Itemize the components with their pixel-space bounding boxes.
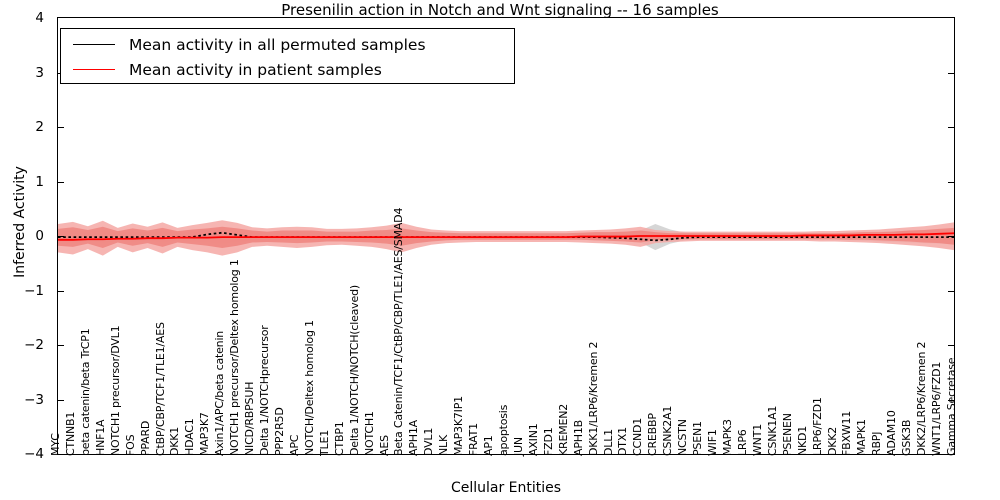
x-tick-label: NOTCH/Deltex homolog 1 — [304, 320, 315, 456]
y-tick-label: −4 — [24, 446, 44, 462]
x-tick-label: FOS — [125, 435, 136, 456]
x-tick-label: PSENEN — [782, 413, 793, 456]
x-tick-label: DKK1/LRP6/Kremen 2 — [588, 342, 599, 456]
x-tick-label: CREBBP — [647, 413, 658, 456]
x-tick-label: Gamma Secretase — [946, 358, 957, 456]
x-tick-label: NICD/RBPSUH — [244, 382, 255, 456]
x-tick-label: DLL1 — [603, 429, 614, 456]
x-tick-label: AXIN1 — [528, 423, 539, 456]
y-tick-label: −2 — [24, 337, 44, 353]
x-tick-label: NKD1 — [797, 426, 808, 456]
x-tick-label: beta catenin/beta TrCP1 — [80, 328, 91, 456]
x-tick-label: KREMEN2 — [558, 404, 569, 456]
x-tick-label: DKK2 — [827, 427, 838, 456]
y-tick-label: −1 — [24, 283, 44, 299]
x-tick-label: Beta Catenin/TCF1/CtBP/CBP/TLE1/AES/SMAD… — [393, 208, 404, 456]
x-tick-label: CTNNB1 — [65, 412, 76, 456]
x-tick-label: DVL1 — [423, 428, 434, 456]
x-tick-label: Axin1/APC/beta catenin — [214, 331, 225, 456]
x-tick-label: NOTCH1 precursor/DVL1 — [110, 326, 121, 456]
x-tick-label: HNF1A — [95, 420, 106, 456]
x-tick-label: NLK — [438, 435, 449, 456]
x-tick-label: FBXW11 — [841, 411, 852, 456]
x-tick-label: FRAT1 — [468, 423, 479, 456]
x-tick-label: NOTCH1 — [364, 411, 375, 456]
x-tick-label: DKK1 — [169, 427, 180, 456]
x-tick-label: WNT1 — [752, 424, 763, 456]
y-tick-label: 4 — [35, 10, 44, 26]
x-tick-label: DKK2/LRP6/Kremen 2 — [916, 342, 927, 456]
x-tick-label: WIF1 — [707, 429, 718, 456]
x-tick-label: HDAC1 — [184, 418, 195, 456]
x-axis-title: Cellular Entities — [57, 480, 955, 496]
x-tick-label: WNT1/LRP6/FZD1 — [931, 362, 942, 456]
chart-root: Presenilin action in Notch and Wnt signa… — [0, 0, 1000, 500]
y-tick-label: 2 — [35, 119, 44, 135]
x-tick-label: AES — [379, 435, 390, 456]
x-tick-label: MAP3K7IP1 — [453, 396, 464, 456]
x-tick-label: NOTCH1 precursor/Deltex homolog 1 — [229, 259, 240, 456]
x-tick-label: PPP2R5D — [274, 407, 285, 456]
x-tick-label: LRP6 — [737, 429, 748, 456]
x-tick-label: CSNK1A1 — [767, 406, 778, 456]
x-tick-label: RBPJ — [871, 432, 882, 456]
x-tick-label: MAPK3 — [722, 419, 733, 456]
x-tick-label: DTX1 — [617, 427, 628, 456]
x-tick-label: GSK3B — [901, 420, 912, 456]
x-tick-label: JUN — [513, 437, 524, 456]
y-axis-tick-labels: −4−3−2−101234 — [0, 0, 52, 500]
x-tick-label: CtBP/CBP/TCF1/TLE1/AES — [155, 322, 166, 456]
x-tick-label: LRP6/FZD1 — [812, 397, 823, 456]
x-tick-label: MAP3K7 — [199, 412, 210, 456]
x-tick-label: PPARD — [140, 421, 151, 456]
x-tick-label: NCSTN — [677, 419, 688, 456]
x-tick-label: MAPK1 — [856, 419, 867, 456]
x-tick-label: ADAM10 — [886, 410, 897, 456]
x-axis-tick-labels: MYCCTNNB1beta catenin/beta TrCP1HNF1ANOT… — [57, 0, 955, 500]
x-tick-label: CSNK2A1 — [662, 406, 673, 456]
x-tick-label: CTBP1 — [334, 421, 345, 456]
x-tick-label: TLE1 — [319, 430, 330, 456]
x-tick-label: Delta 1/NOTCH/NOTCH(cleaved) — [349, 285, 360, 456]
x-tick-label: APC — [289, 435, 300, 456]
x-tick-label: APH1B — [573, 420, 584, 456]
y-tick-label: 3 — [35, 65, 44, 81]
x-tick-label: PSEN1 — [692, 421, 703, 456]
x-tick-label: APH1A — [408, 420, 419, 456]
x-tick-label: Delta 1/NOTCHprecursor — [259, 325, 270, 456]
x-tick-label: apoptosis — [498, 405, 509, 456]
x-tick-label: FZD1 — [543, 427, 554, 456]
x-tick-label: MYC — [50, 433, 61, 456]
x-tick-label: CCND1 — [632, 418, 643, 456]
y-tick-label: 1 — [35, 174, 44, 190]
y-tick-label: 0 — [35, 228, 44, 244]
y-tick-label: −3 — [24, 392, 44, 408]
x-tick-label: AP1 — [483, 435, 494, 456]
